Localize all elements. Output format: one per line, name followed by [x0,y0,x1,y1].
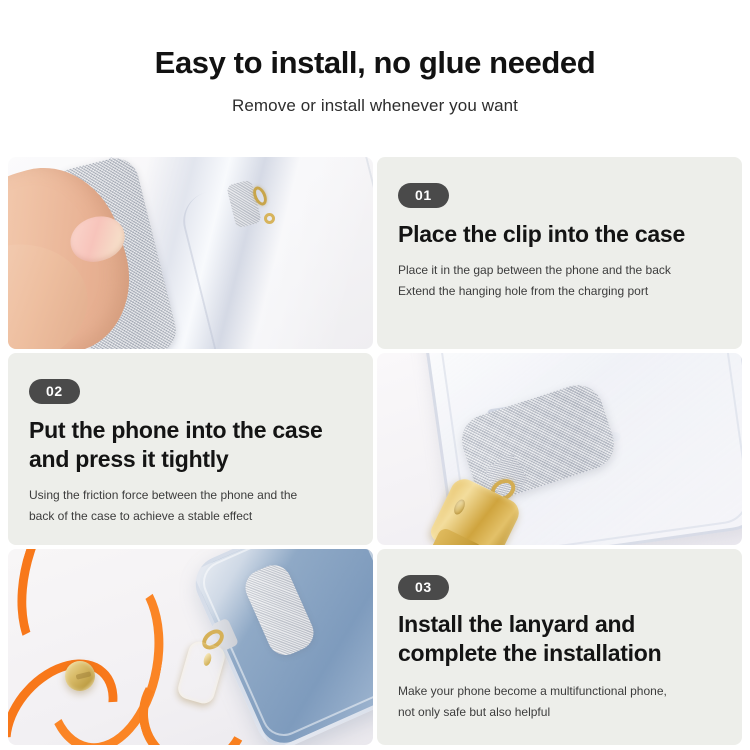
step-1-badge: 01 [398,183,449,208]
gold-ring-secondary-icon [264,213,275,224]
step-row-3: 03 Install the lanyard and complete the … [8,549,742,745]
step-3-badge: 03 [398,575,449,600]
install-instructions-infographic: Easy to install, no glue needed Remove o… [0,0,750,750]
step-2-description-line-1: Using the friction force between the pho… [29,485,359,506]
step-row-1: 01 Place the clip into the case Place it… [8,157,742,349]
step-3-text: 03 Install the lanyard and complete the … [377,549,742,745]
step-3-description: Make your phone become a multifunctional… [398,681,728,722]
step-1-text: 01 Place the clip into the case Place it… [377,157,742,349]
page-subtitle: Remove or install whenever you want [0,96,750,116]
steps-grid: 01 Place the clip into the case Place it… [8,157,742,745]
step-3-description-line-1: Make your phone become a multifunctional… [398,681,728,702]
step-1-title: Place the clip into the case [398,220,728,249]
step-3-description-line-2: not only safe but also helpful [398,702,728,723]
step-row-2: 02 Put the phone into the case and press… [8,353,742,545]
step-2-photo [377,353,742,545]
step-2-text: 02 Put the phone into the case and press… [8,353,373,545]
header: Easy to install, no glue needed Remove o… [0,0,750,116]
step-3-title: Install the lanyard and complete the ins… [398,610,728,668]
step-1-description-line-2: Extend the hanging hole from the chargin… [398,281,728,302]
step-2-description: Using the friction force between the pho… [29,485,359,526]
step-1-description: Place it in the gap between the phone an… [398,260,728,301]
step-1-photo [8,157,373,349]
step-2-description-line-2: back of the case to achieve a stable eff… [29,506,359,527]
step-1-description-line-1: Place it in the gap between the phone an… [398,260,728,281]
step-2-badge: 02 [29,379,80,404]
step-3-photo [8,549,373,745]
page-title: Easy to install, no glue needed [0,46,750,80]
step-2-title: Put the phone into the case and press it… [29,416,359,474]
